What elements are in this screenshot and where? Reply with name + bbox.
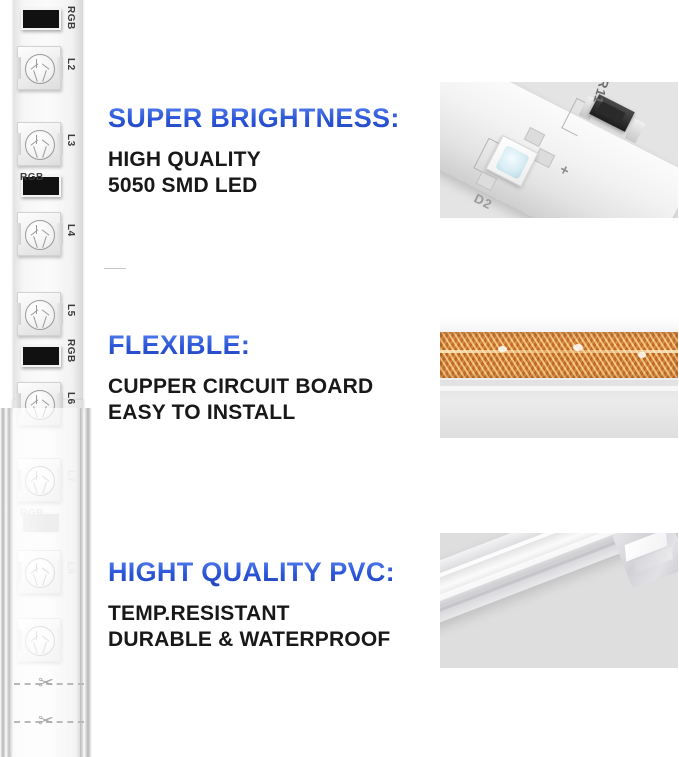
- feature-body-line: DURABLE & WATERPROOF: [108, 627, 395, 653]
- silkscreen-label-rgb: RGB: [20, 508, 44, 519]
- silkscreen-label-l7: L7: [65, 470, 76, 483]
- led-dome-icon: [25, 626, 55, 656]
- cut-mark: ✂: [14, 672, 84, 696]
- copper-braid: [440, 332, 678, 378]
- copper-braid-cable-photo: [440, 282, 678, 438]
- led-package-next: [17, 618, 61, 662]
- feature-body: TEMP.RESISTANT DURABLE & WATERPROOF: [108, 601, 395, 653]
- silkscreen-label-rgb: RGB: [65, 339, 76, 363]
- sleeve-lower-body: [440, 380, 678, 438]
- feature-heading: FLEXIBLE:: [108, 330, 373, 360]
- feature-body-line: 5050 SMD LED: [108, 173, 400, 199]
- divider-rule: [104, 268, 126, 269]
- silkscreen-label-rgb: RGB: [20, 172, 44, 183]
- feature-flexible: FLEXIBLE: CUPPER CIRCUIT BOARD EASY TO I…: [108, 330, 373, 426]
- copper-specular: [498, 346, 507, 352]
- scissors-icon: ✂: [38, 710, 54, 734]
- led-dome-icon: [25, 300, 55, 330]
- feature-heading: HIGHT QUALITY PVC:: [108, 557, 395, 587]
- feature-body-line: HIGH QUALITY: [108, 147, 400, 173]
- silkscreen-label-l8: L8: [65, 562, 76, 575]
- sleeve-lower-highlight: [440, 386, 678, 391]
- copper-specular: [638, 352, 646, 358]
- feature-super-brightness: SUPER BRIGHTNESS: HIGH QUALITY 5050 SMD …: [108, 103, 400, 199]
- silkscreen-label-l3: L3: [65, 134, 76, 147]
- led-dome-icon: [25, 390, 55, 420]
- silkscreen-label-l6: L6: [65, 392, 76, 405]
- led-dome-icon: [25, 558, 55, 588]
- silkscreen-label-l2: L2: [65, 58, 76, 71]
- feature-body: CUPPER CIRCUIT BOARD EASY TO INSTALL: [108, 374, 373, 426]
- pvc-sleeve-tip-photo: [440, 533, 678, 668]
- feature-body-line: TEMP.RESISTANT: [108, 601, 395, 627]
- led-package-l6: [17, 382, 61, 426]
- rgb-driver-chip: [21, 345, 61, 367]
- silkscreen-label-rgb: RGB: [65, 6, 76, 30]
- led-package-l8: [17, 550, 61, 594]
- feature-body: HIGH QUALITY 5050 SMD LED: [108, 147, 400, 199]
- feature-heading: SUPER BRIGHTNESS:: [108, 103, 400, 133]
- led-dome-icon: [25, 466, 55, 496]
- led-dome-icon: [25, 54, 55, 84]
- feature-hight-quality-pvc: HIGHT QUALITY PVC: TEMP.RESISTANT DURABL…: [108, 557, 395, 653]
- scissors-icon: ✂: [38, 672, 54, 696]
- rgb-led-strip: RGB L2 L3 RGB L4 L5 RGB L6: [0, 0, 100, 757]
- cut-mark: ✂: [14, 710, 84, 734]
- copper-specular: [573, 344, 583, 351]
- rgb-driver-chip: [21, 8, 61, 30]
- led-package-l4: [17, 212, 61, 256]
- smd-led-closeup-photo: R11 D2 +: [440, 82, 678, 218]
- led-package-l3: [17, 122, 61, 166]
- pvc-tube-tip: [612, 533, 678, 589]
- feature-body-line: CUPPER CIRCUIT BOARD: [108, 374, 373, 400]
- led-package-l2: [17, 46, 61, 90]
- feature-body-line: EASY TO INSTALL: [108, 400, 373, 426]
- silkscreen-label-l5: L5: [65, 304, 76, 317]
- led-dome-icon: [25, 130, 55, 160]
- silkscreen-label-l4: L4: [65, 224, 76, 237]
- led-package-l7: [17, 458, 61, 502]
- led-package-l5: [17, 292, 61, 336]
- led-dome-icon: [25, 220, 55, 250]
